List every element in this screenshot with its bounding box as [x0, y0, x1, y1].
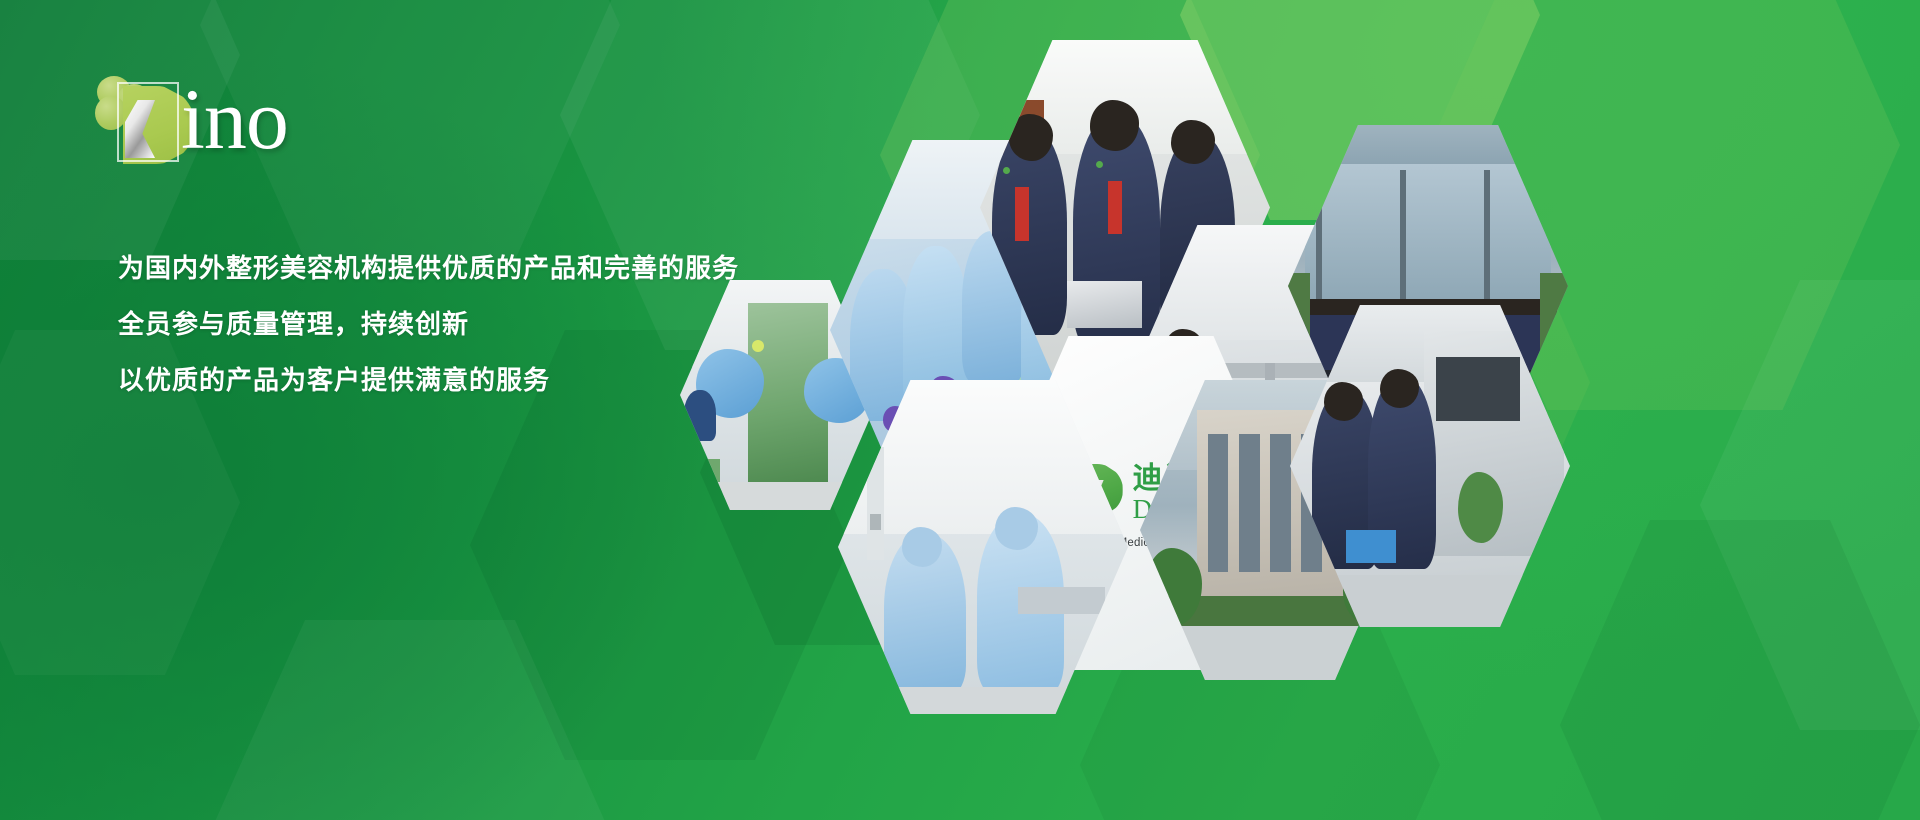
logo-frame — [117, 82, 179, 162]
brand-wordmark: ino — [181, 76, 288, 162]
hexagon-photo-cluster: 迪诺® Dino Hangzhou Dino Medical Instrumen… — [640, 90, 1920, 650]
hero-banner: ino 为国内外整形美容机构提供优质的产品和完善的服务 全员参与质量管理，持续创… — [0, 0, 1920, 820]
brand-logo: ino — [93, 70, 353, 170]
